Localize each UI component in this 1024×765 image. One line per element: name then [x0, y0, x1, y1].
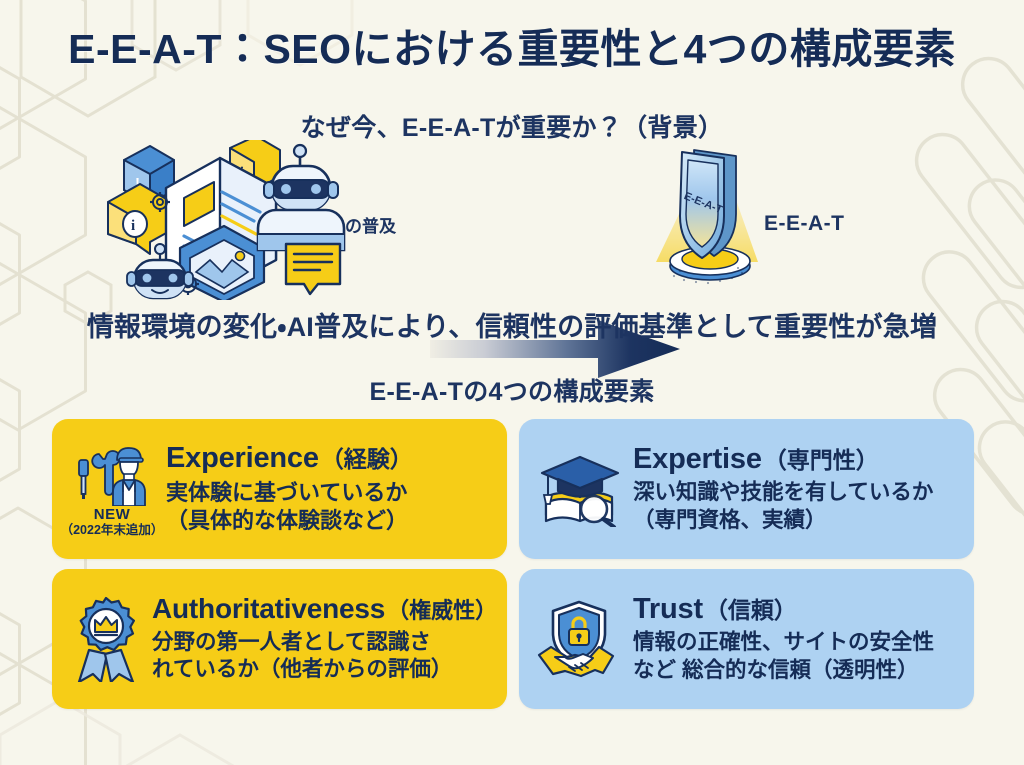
card-experience-desc-line-2: （具体的な体験談など）: [166, 507, 497, 535]
background-banner: 情報環境の変化・AI普及により、信頼性の評価基準として重要性が急増: [0, 305, 1024, 344]
shield-lock-handshake-icon: [535, 599, 623, 679]
card-experience-title-en: Experience: [166, 442, 319, 474]
card-trust-body: Trust（信頼） 情報の正確性、サイトの安全性 など 総合的な信頼（透明性）: [631, 594, 964, 685]
card-expertise-desc-line-1: 深い知識や技能を有しているか: [633, 479, 964, 507]
card-trust[interactable]: Trust（信頼） 情報の正確性、サイトの安全性 など 総合的な信頼（透明性）: [519, 569, 974, 709]
award-ribbon-crown-icon: [67, 596, 145, 682]
card-trust-icon-area: [527, 599, 631, 679]
new-badge: NEW （2022年末追加）: [61, 507, 164, 537]
card-experience-title-jp: （経験）: [321, 446, 413, 472]
card-expertise[interactable]: Expertise（専門性） 深い知識や技能を有しているか （専門資格、実績）: [519, 419, 974, 559]
card-experience-icon-area: NEW （2022年末追加）: [60, 440, 164, 537]
card-expertise-icon-area: [527, 451, 631, 527]
card-authoritativeness-body: Authoritativeness（権威性） 分野の第一人者として認識さ れてい…: [152, 594, 497, 684]
card-authoritativeness-desc-line-2: れているか（他者からの評価）: [152, 656, 497, 684]
card-trust-title-jp: （信頼）: [705, 597, 797, 623]
card-expertise-desc-line-2: （専門資格、実績）: [633, 507, 964, 535]
flow-diagram: ! i i: [0, 140, 1024, 300]
card-trust-desc-line-2: など 総合的な信頼（透明性）: [633, 657, 964, 685]
card-experience[interactable]: NEW （2022年末追加） Experience（経験） 実体験に基づいている…: [52, 419, 507, 559]
background-heading-label: なぜ今、E-E-A-Tが重要か？（背景）: [301, 114, 724, 142]
card-authoritativeness-desc-line-1: 分野の第一人者として認識さ: [152, 629, 497, 657]
new-badge-label: NEW: [61, 507, 164, 523]
card-expertise-title-en: Expertise: [633, 443, 762, 475]
card-trust-desc-line-1: 情報の正確性、サイトの安全性: [633, 629, 964, 657]
card-expertise-title: Expertise（専門性）: [633, 444, 964, 476]
slide-title-bar: E-E-A-T：SEOにおける重要性と4つの構成要素: [0, 26, 1024, 73]
card-authoritativeness-title-jp: （権威性）: [387, 598, 497, 623]
card-authoritativeness-title-en: Authoritativeness: [152, 593, 385, 624]
slide-canvas: E-E-A-T：SEOにおける重要性と4つの構成要素 なぜ今、E-E-A-Tが重…: [0, 0, 1024, 765]
background-banner-text: 情報環境の変化・AI普及により、信頼性の評価基準として重要性が急増: [87, 312, 937, 342]
graduation-book-magnifier-icon: [536, 451, 622, 527]
component-card-grid: NEW （2022年末追加） Experience（経験） 実体験に基づいている…: [52, 419, 974, 709]
card-trust-desc: 情報の正確性、サイトの安全性 など 総合的な信頼（透明性）: [633, 629, 964, 684]
background-section-heading: なぜ今、E-E-A-Tが重要か？（背景）: [0, 108, 1024, 144]
card-authoritativeness-icon-area: [60, 596, 152, 682]
card-experience-title: Experience（経験）: [166, 443, 497, 475]
card-trust-title-en: Trust: [633, 593, 703, 625]
card-experience-desc-line-1: 実体験に基づいているか: [166, 479, 497, 507]
card-authoritativeness-title: Authoritativeness（権威性）: [152, 594, 497, 625]
generative-ai-illustration: ! i i: [104, 140, 394, 300]
page-title: E-E-A-T：SEOにおける重要性と4つの構成要素: [0, 26, 1024, 73]
card-authoritativeness[interactable]: Authoritativeness（権威性） 分野の第一人者として認識さ れてい…: [52, 569, 507, 709]
components-section-heading: E-E-A-Tの4つの構成要素: [0, 372, 1024, 408]
worker-tools-icon: [73, 440, 151, 506]
components-heading-label: E-E-A-Tの4つの構成要素: [369, 378, 654, 406]
eeat-shield-illustration: E-E-A-T: [650, 144, 770, 289]
card-expertise-title-jp: （専門性）: [764, 447, 879, 473]
svg-text:i: i: [131, 218, 135, 234]
card-experience-body: Experience（経験） 実体験に基づいているか （具体的な体験談など）: [164, 443, 497, 535]
card-trust-title: Trust（信頼）: [633, 594, 964, 626]
card-expertise-body: Expertise（専門性） 深い知識や技能を有しているか （専門資格、実績）: [631, 444, 964, 535]
card-authoritativeness-desc: 分野の第一人者として認識さ れているか（他者からの評価）: [152, 629, 497, 684]
card-expertise-desc: 深い知識や技能を有しているか （専門資格、実績）: [633, 479, 964, 534]
card-experience-desc: 実体験に基づいているか （具体的な体験談など）: [166, 479, 497, 535]
new-badge-note: （2022年末追加）: [61, 523, 164, 537]
